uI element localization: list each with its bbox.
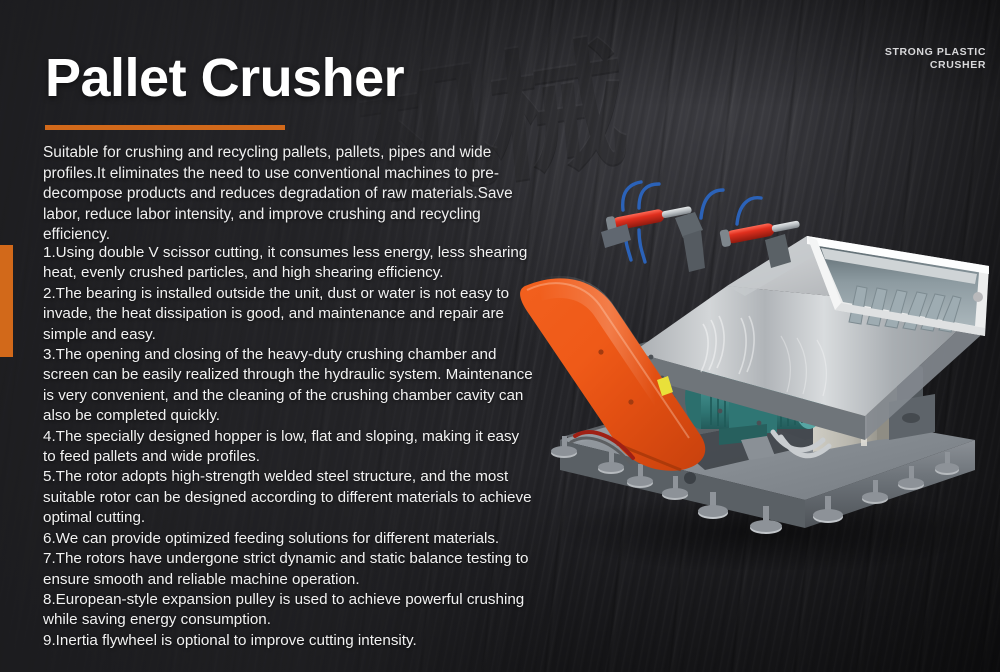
feature-item: 4.The specially designed hopper is low, …: [43, 427, 535, 468]
feature-item: 3.The opening and closing of the heavy-d…: [43, 345, 535, 427]
left-accent-bar: [0, 245, 13, 357]
feature-item: 5.The rotor adopts high-strength welded …: [43, 467, 535, 528]
feature-item: 9.Inertia flywheel is optional to improv…: [43, 631, 535, 651]
feature-item: 1.Using double V scissor cutting, it con…: [43, 243, 535, 284]
page-title: Pallet Crusher: [45, 50, 404, 107]
indicator-dot: [973, 292, 983, 302]
intro-paragraph: Suitable for crushing and recycling pall…: [43, 143, 523, 246]
title-divider: [45, 125, 285, 130]
feature-item: 7.The rotors have undergone strict dynam…: [43, 549, 535, 590]
product-image: [505, 140, 1000, 570]
feature-item: 8.European-style expansion pulley is use…: [43, 590, 535, 631]
machine-hydraulic-cylinders: [601, 182, 801, 272]
product-banner: 机械: [0, 0, 1000, 672]
corner-label-line-2: CRUSHER: [885, 59, 986, 72]
feature-list: 1.Using double V scissor cutting, it con…: [43, 243, 535, 651]
feature-item: 6.We can provide optimized feeding solut…: [43, 529, 535, 549]
corner-label-line-1: STRONG PLASTIC: [885, 46, 986, 59]
feature-item: 2.The bearing is installed outside the u…: [43, 284, 535, 345]
corner-label: STRONG PLASTIC CRUSHER: [885, 46, 986, 72]
